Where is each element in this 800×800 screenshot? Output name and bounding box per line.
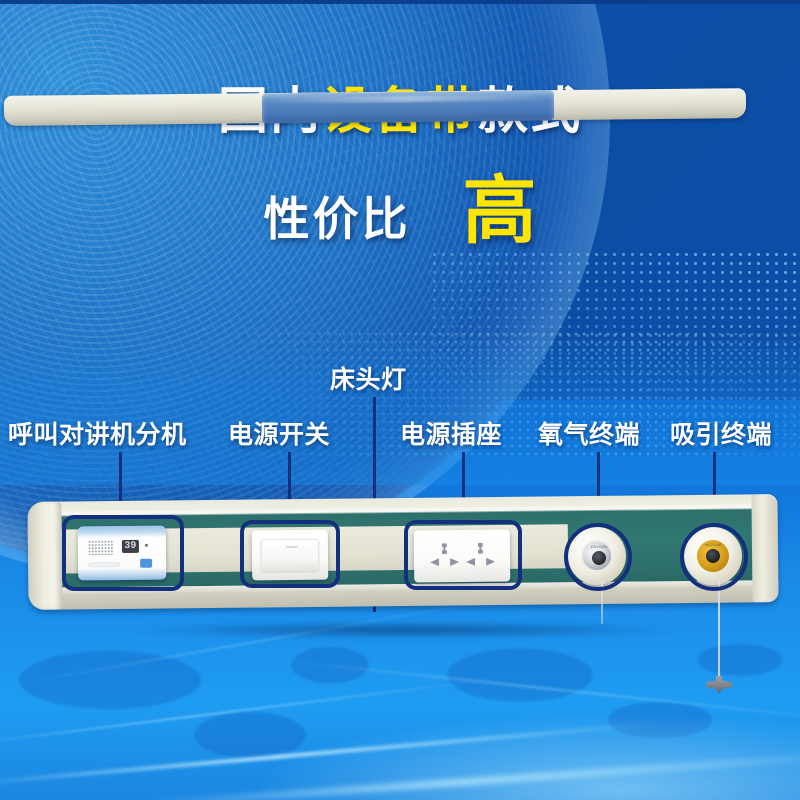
highlight-box-nurse-call <box>62 515 184 591</box>
highlight-circle-suction <box>680 523 748 591</box>
subheadline-highlight: 高 <box>463 169 537 252</box>
callout-label-power-switch: 电源开关 <box>228 415 330 451</box>
right-end-cap <box>751 494 778 602</box>
suction-hanging-cord <box>718 580 720 680</box>
highlight-circle-oxygen <box>564 523 632 591</box>
poster-canvas: 国内设备带款式 性价比高 呼叫对讲机分机 电源开关 床头灯 电源插座 氧气终端 … <box>0 0 800 800</box>
callout-label-power-socket: 电源插座 <box>400 415 502 451</box>
bottom-glow <box>0 650 800 800</box>
callout-label-oxygen-terminal: 氧气终端 <box>538 415 640 451</box>
highlight-box-power-socket <box>404 520 522 590</box>
left-end-cap <box>27 502 62 610</box>
highlight-box-power-switch <box>240 520 340 588</box>
callout-label-bedhead-lamp: 床头灯 <box>330 360 407 396</box>
callout-label-nurse-call: 呼叫对讲机分机 <box>8 415 187 451</box>
subheadline-text: 性价比 <box>264 193 411 245</box>
callout-label-suction-terminal: 吸引终端 <box>670 415 772 451</box>
subheadline: 性价比高 <box>0 168 800 242</box>
top-edge-bar <box>0 0 800 4</box>
